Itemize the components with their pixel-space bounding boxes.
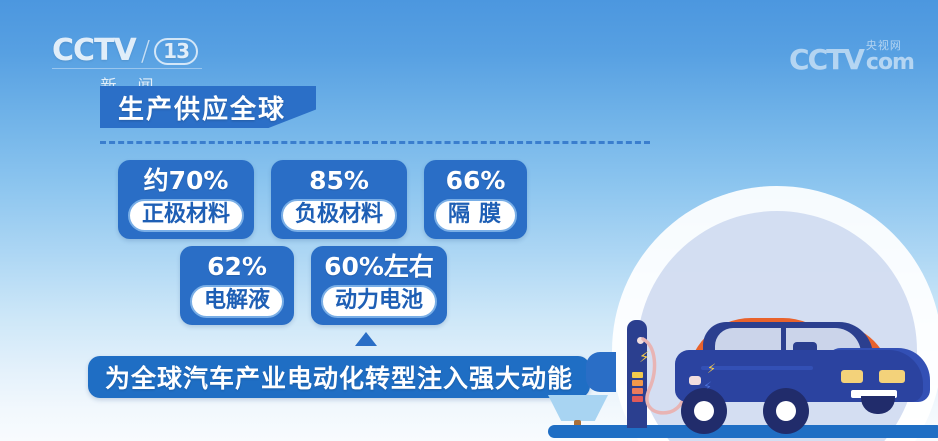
stat-label: 动力电池 bbox=[321, 285, 437, 318]
car-wheel-rear bbox=[681, 388, 727, 434]
broadcast-infographic-frame: CCTV / 13 新 闻 CCTV 央视网 com 生产供应全球 约70% 正… bbox=[0, 0, 938, 441]
stat-card-separator: 66% 隔膜 bbox=[424, 160, 527, 239]
page-title: 生产供应全球 bbox=[118, 89, 286, 126]
stat-label: 电解液 bbox=[190, 285, 284, 318]
page-title-banner: 生产供应全球 bbox=[100, 86, 316, 128]
stat-value: 62% bbox=[207, 252, 267, 282]
stat-label: 隔膜 bbox=[434, 199, 517, 232]
electric-car-illustration: ⚡ ⚡ ⚡ bbox=[655, 322, 938, 432]
stat-value: 约70% bbox=[144, 166, 229, 196]
watermark-stack: 央视网 com bbox=[866, 40, 914, 74]
tree-canopy-icon bbox=[548, 395, 608, 421]
wheel-hub bbox=[694, 401, 714, 421]
car-charging-port-icon bbox=[689, 376, 701, 385]
cctv-wordmark: CCTV bbox=[52, 36, 136, 66]
stat-card-cathode-material: 约70% 正极材料 bbox=[118, 160, 254, 239]
car-headlight-outer bbox=[879, 370, 905, 383]
stat-card-electrolyte: 62% 电解液 bbox=[180, 246, 294, 325]
lightning-bolt-icon-spark: ⚡ bbox=[639, 348, 650, 366]
decorative-blue-blob bbox=[586, 352, 616, 392]
title-dashed-divider bbox=[100, 141, 650, 144]
cctv-channel-number: 13 bbox=[154, 38, 198, 65]
stat-label: 正极材料 bbox=[128, 199, 244, 232]
watermark-domain: com bbox=[866, 52, 914, 74]
footer-message: 为全球汽车产业电动化转型注入强大动能 bbox=[105, 359, 573, 395]
stat-row-two: 62% 电解液 60%左右 动力电池 bbox=[180, 246, 447, 325]
car-rear-arch bbox=[861, 396, 895, 414]
triangle-marker-icon bbox=[355, 332, 377, 346]
wheel-hub bbox=[776, 401, 796, 421]
stat-value: 66% bbox=[446, 166, 506, 196]
footer-message-banner: 为全球汽车产业电动化转型注入强大动能 bbox=[88, 356, 590, 398]
stat-label: 负极材料 bbox=[281, 199, 397, 232]
stat-value: 60%左右 bbox=[324, 252, 434, 282]
car-side-line bbox=[701, 366, 813, 370]
car-headlight-inner bbox=[841, 370, 863, 383]
car-wheel-front bbox=[763, 388, 809, 434]
stat-row-one: 约70% 正极材料 85% 负极材料 66% 隔膜 bbox=[118, 160, 527, 239]
cctv13-channel-logo: CCTV / 13 新 闻 bbox=[52, 36, 202, 92]
cctv-com-watermark: CCTV 央视网 com bbox=[789, 40, 914, 74]
cctv-logo-divider bbox=[52, 68, 202, 69]
stat-value: 85% bbox=[309, 166, 369, 196]
cctv-logo-row: CCTV / 13 bbox=[52, 36, 202, 66]
watermark-brand: CCTV bbox=[789, 46, 863, 74]
stat-card-anode-material: 85% 负极材料 bbox=[271, 160, 407, 239]
lightning-bolt-icon: ⚡ bbox=[707, 362, 716, 377]
stat-card-power-battery: 60%左右 动力电池 bbox=[311, 246, 447, 325]
cctv-logo-slash: / bbox=[141, 37, 149, 65]
